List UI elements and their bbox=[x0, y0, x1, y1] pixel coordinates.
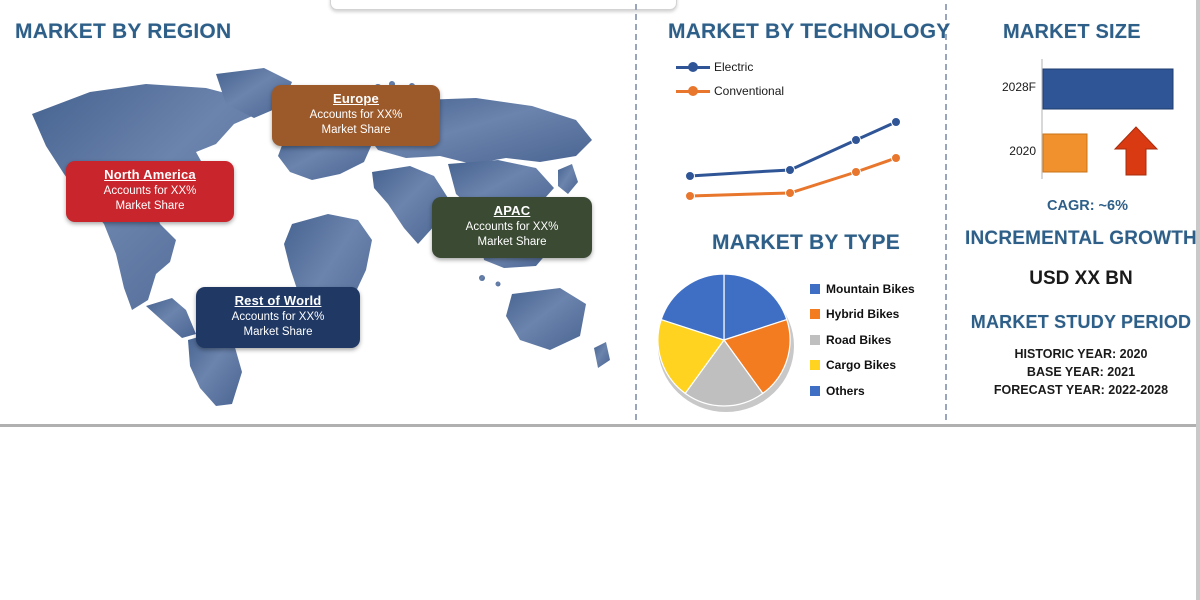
region-line-1: Accounts for XX% bbox=[442, 220, 582, 235]
upper-panels: MARKET BY REGION bbox=[0, 0, 1200, 424]
section-title-market-by-type: MARKET BY TYPE bbox=[712, 231, 900, 255]
region-line-2: Market Share bbox=[282, 123, 430, 138]
legend-item-cargo-bikes[interactable]: Cargo Bikes bbox=[810, 353, 915, 379]
market-study-period-values: HISTORIC YEAR: 2020 BASE YEAR: 2021 FORE… bbox=[962, 345, 1200, 399]
line-marker-icon bbox=[676, 66, 710, 69]
distribution-panel: MARKET BY DISTRIBUTION CHANNEL Based on … bbox=[0, 427, 1200, 600]
bar-2020 bbox=[1043, 134, 1087, 172]
bar-2028f bbox=[1043, 69, 1173, 109]
legend-label: Cargo Bikes bbox=[826, 358, 896, 372]
region-line-2: Market Share bbox=[206, 325, 350, 340]
bar-label-2020: 2020 bbox=[1009, 144, 1036, 158]
legend-swatch-icon bbox=[810, 309, 820, 319]
region-name: Rest of World bbox=[206, 293, 350, 308]
section-title-market-study-period: MARKET STUDY PERIOD bbox=[962, 312, 1200, 333]
study-forecast-year: FORECAST YEAR: 2022-2028 bbox=[962, 381, 1200, 399]
legend-label: Conventional bbox=[714, 84, 784, 98]
region-callout-rest-of-world[interactable]: Rest of World Accounts for XX% Market Sh… bbox=[196, 287, 360, 348]
legend-item-electric[interactable]: Electric bbox=[676, 55, 784, 79]
study-base-year: BASE YEAR: 2021 bbox=[962, 363, 1200, 381]
region-callout-apac[interactable]: APAC Accounts for XX% Market Share bbox=[432, 197, 592, 258]
market-size-bar-chart: 2028F 2020 bbox=[1000, 55, 1180, 185]
panel-divider-left bbox=[635, 4, 637, 420]
legend-swatch-icon bbox=[810, 284, 820, 294]
type-pie-chart bbox=[648, 262, 808, 417]
legend-swatch-icon bbox=[810, 386, 820, 396]
legend-item-hybrid-bikes[interactable]: Hybrid Bikes bbox=[810, 302, 915, 328]
legend-swatch-icon bbox=[810, 335, 820, 345]
region-line-2: Market Share bbox=[442, 235, 582, 250]
legend-item-road-bikes[interactable]: Road Bikes bbox=[810, 327, 915, 353]
region-name: North America bbox=[76, 167, 224, 182]
section-title-market-by-technology: MARKET BY TECHNOLOGY bbox=[668, 20, 950, 44]
section-title-market-size: MARKET SIZE bbox=[1003, 21, 1141, 44]
page-right-edge bbox=[1196, 0, 1200, 600]
panel-divider-right bbox=[945, 4, 947, 420]
growth-arrow-icon bbox=[1115, 127, 1157, 175]
bar-label-2028f: 2028F bbox=[1002, 80, 1036, 94]
incremental-growth-value: USD XX BN bbox=[962, 268, 1200, 290]
region-line-1: Accounts for XX% bbox=[76, 184, 224, 199]
region-callout-europe[interactable]: Europe Accounts for XX% Market Share bbox=[272, 85, 440, 146]
technology-line-chart bbox=[660, 100, 920, 210]
legend-label: Hybrid Bikes bbox=[826, 307, 899, 321]
type-legend: Mountain Bikes Hybrid Bikes Road Bikes C… bbox=[810, 276, 915, 404]
page-title-market-by-region: MARKET BY REGION bbox=[15, 20, 231, 44]
section-title-incremental-growth: INCREMENTAL GROWTH bbox=[962, 228, 1200, 250]
region-callout-north-america[interactable]: North America Accounts for XX% Market Sh… bbox=[66, 161, 234, 222]
region-line-1: Accounts for XX% bbox=[206, 310, 350, 325]
legend-label: Others bbox=[826, 384, 865, 398]
region-name: Europe bbox=[282, 91, 430, 106]
legend-label: Road Bikes bbox=[826, 333, 891, 347]
region-name: APAC bbox=[442, 203, 582, 218]
legend-label: Electric bbox=[714, 60, 753, 74]
study-historic-year: HISTORIC YEAR: 2020 bbox=[962, 345, 1200, 363]
legend-swatch-icon bbox=[810, 360, 820, 370]
line-marker-icon bbox=[676, 90, 710, 93]
region-line-2: Market Share bbox=[76, 199, 224, 214]
cagr-label: CAGR: ~6% bbox=[1000, 198, 1175, 214]
legend-item-others[interactable]: Others bbox=[810, 378, 915, 404]
technology-legend: Electric Conventional bbox=[676, 55, 784, 103]
legend-item-mountain-bikes[interactable]: Mountain Bikes bbox=[810, 276, 915, 302]
region-line-1: Accounts for XX% bbox=[282, 108, 430, 123]
legend-label: Mountain Bikes bbox=[826, 282, 915, 296]
infographic-page: MARKET BY REGION bbox=[0, 0, 1200, 600]
